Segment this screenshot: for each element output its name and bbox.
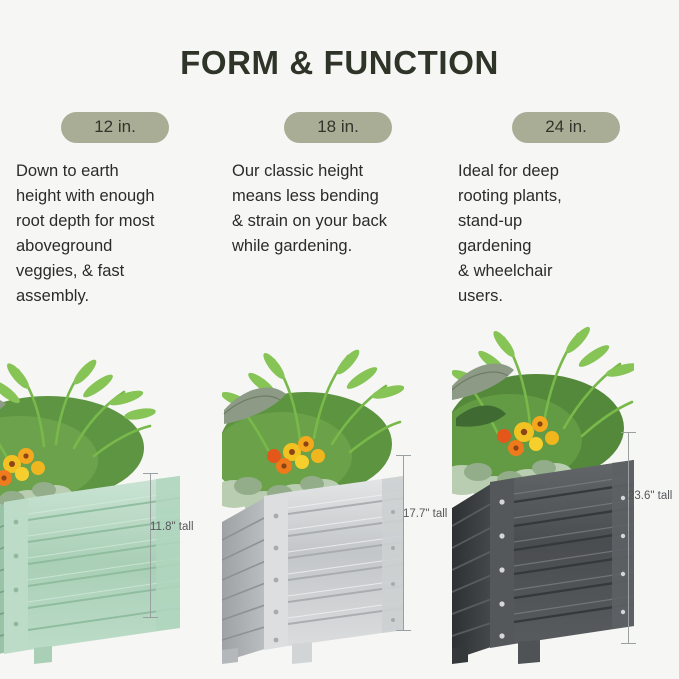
silver-raised-garden-bed-image <box>222 340 404 665</box>
feature-description-18in: Our classic height means less bending & … <box>232 159 387 259</box>
feature-description-24in: Ideal for deep rooting plants, stand-up … <box>458 159 562 309</box>
height-badge-24in: 24 in. <box>512 112 620 143</box>
feature-column-18in: 18 in. Our classic height means less ben… <box>226 112 452 309</box>
plant-foliage <box>452 324 634 504</box>
dimension-line-18in <box>396 455 411 631</box>
product-image-stage <box>0 0 679 679</box>
dimension-line-24in <box>621 432 636 644</box>
dimension-label-12in: 11.8" tall <box>150 521 194 533</box>
height-badge-18in: 18 in. <box>284 112 392 143</box>
page-title: FORM & FUNCTION <box>0 44 679 82</box>
dark-gray-raised-garden-bed-image <box>452 322 634 665</box>
rivets <box>14 520 19 627</box>
rivets <box>274 514 279 643</box>
plant-foliage <box>0 357 157 523</box>
dimension-label-24in: 23.6" tall <box>628 490 672 502</box>
feature-description-12in: Down to earth height with enough root de… <box>16 159 155 309</box>
feature-column-12in: 12 in. Down to earth height with enough … <box>0 112 226 309</box>
infographic-canvas: FORM & FUNCTION 12 in. Down to earth hei… <box>0 0 679 679</box>
flower-cluster <box>267 436 325 474</box>
dimension-label-18in: 17.7" tall <box>403 508 447 520</box>
feature-columns: 12 in. Down to earth height with enough … <box>0 112 679 309</box>
feature-column-24in: 24 in. Ideal for deep rooting plants, st… <box>452 112 678 309</box>
dimension-line-12in <box>143 473 158 618</box>
flower-cluster <box>497 416 559 456</box>
flower-cluster <box>0 448 45 486</box>
height-badge-12in: 12 in. <box>61 112 169 143</box>
plant-foliage <box>222 347 404 517</box>
rivets <box>499 499 504 638</box>
